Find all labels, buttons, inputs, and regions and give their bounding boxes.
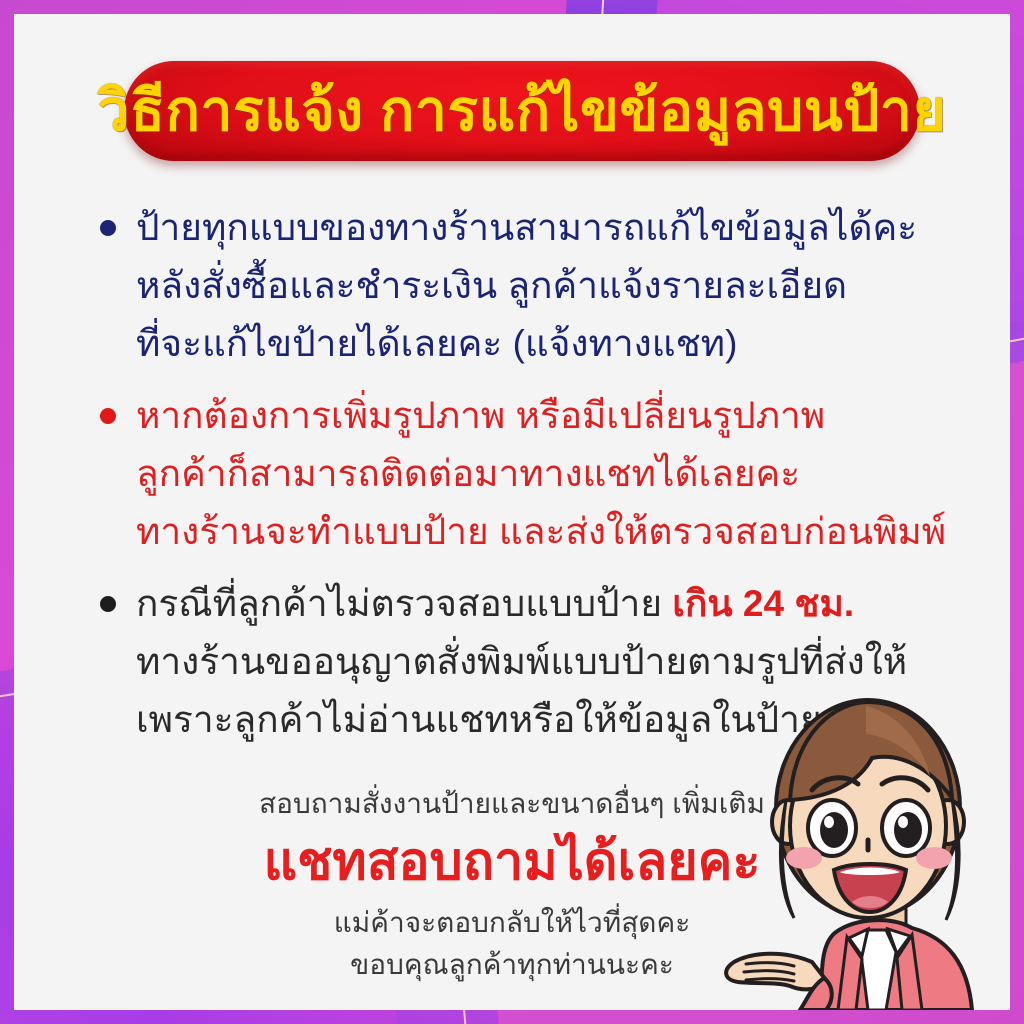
page-title: วิธีการแจ้ง การแก้ไขข้อมูลบนป้าย <box>98 83 947 140</box>
list-item-line: ที่จะแก้ไขป้ายได้เลยคะ (แจ้งทางแชท) <box>136 315 970 373</box>
list-item: กรณีที่ลูกค้าไม่ตรวจสอบแบบป้าย เกิน 24 ช… <box>86 575 970 749</box>
chat-cta-text: แชทสอบถามได้เลยคะ <box>54 826 970 898</box>
list-item-line: เพราะลูกค้าไม่อ่านแชทหรือให้ข้อมูลในป้าย <box>136 691 970 749</box>
bullet-list: ป้ายทุกแบบของทางร้านสามารถแก้ไขข้อมูลได้… <box>86 199 970 763</box>
deadline-highlight: เกิน 24 ชม. <box>672 583 854 624</box>
list-item-line-prefix: กรณีที่ลูกค้าไม่ตรวจสอบแบบป้าย <box>136 583 672 624</box>
list-item-line-mixed: กรณีที่ลูกค้าไม่ตรวจสอบแบบป้าย เกิน 24 ช… <box>136 575 970 633</box>
list-item-line: ลูกค้าก็สามารถติดต่อมาทางแชทได้เลยคะ <box>136 445 970 503</box>
list-item-line: ทางร้านจะทำแบบป้าย และส่งให้ตรวจสอบก่อนพ… <box>136 503 970 561</box>
content-card: วิธีการแจ้ง การแก้ไขข้อมูลบนป้าย ป้ายทุก… <box>14 14 1010 1010</box>
list-item-line: หลังสั่งซื้อและชำระเงิน ลูกค้าแจ้งรายละเ… <box>136 257 970 315</box>
footer-thanks-line-1: แม่ค้าจะตอบกลับให้ไวที่สุดคะ <box>54 902 970 944</box>
list-item-line: หากต้องการเพิ่มรูปภาพ หรือมีเปลี่ยนรูปภา… <box>136 387 970 445</box>
list-item-line: ทางร้านขออนุญาตสั่งพิมพ์แบบป้ายตามรูปที่… <box>136 633 970 691</box>
footer-thanks-line-2: ขอบคุณลูกค้าทุกท่านนะคะ <box>54 944 970 986</box>
title-banner: วิธีการแจ้ง การแก้ไขข้อมูลบนป้าย <box>124 61 920 161</box>
list-item-line: ป้ายทุกแบบของทางร้านสามารถแก้ไขข้อมูลได้… <box>136 199 970 257</box>
footer-block: สอบถามสั่งงานป้ายและขนาดอื่นๆ เพิ่มเติม … <box>54 784 970 986</box>
poster-canvas: วิธีการแจ้ง การแก้ไขข้อมูลบนป้าย ป้ายทุก… <box>0 0 1024 1024</box>
list-item: ป้ายทุกแบบของทางร้านสามารถแก้ไขข้อมูลได้… <box>86 199 970 373</box>
dot-bullet-icon <box>100 408 116 424</box>
dot-bullet-icon <box>100 596 116 612</box>
list-item: หากต้องการเพิ่มรูปภาพ หรือมีเปลี่ยนรูปภา… <box>86 387 970 561</box>
dot-bullet-icon <box>100 220 116 236</box>
footer-subtitle: สอบถามสั่งงานป้ายและขนาดอื่นๆ เพิ่มเติม <box>54 784 970 824</box>
